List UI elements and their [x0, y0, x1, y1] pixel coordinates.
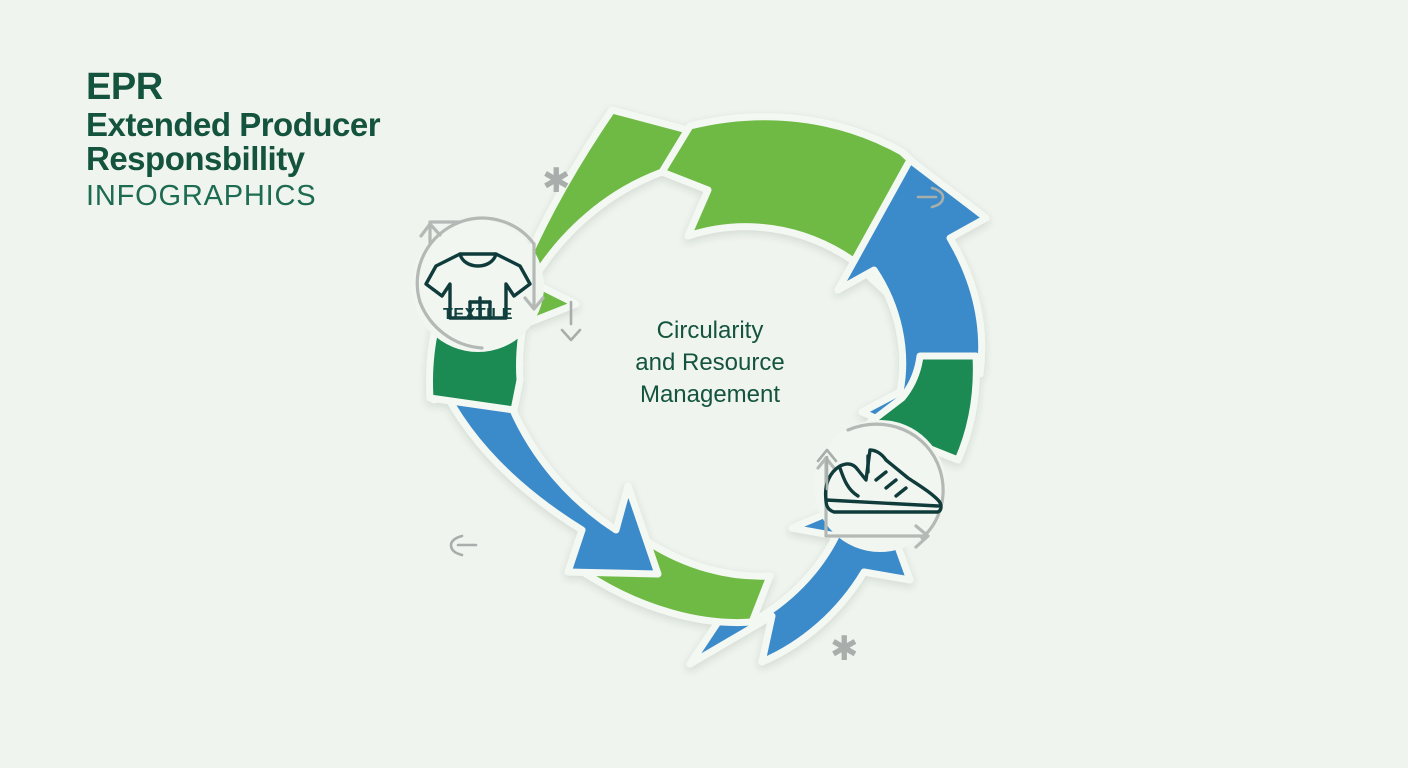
node-textile-caption: TEXTILE: [402, 306, 554, 324]
infographic-canvas: EPR Extended Producer Responsbillity INF…: [0, 0, 1408, 768]
tshirt-icon: [402, 210, 554, 362]
circular-cycle-diagram: Circularity and Resource Management: [390, 60, 1030, 720]
node-footwear[interactable]: [804, 410, 956, 562]
ring-arrows-svg: [390, 60, 1030, 720]
node-textile[interactable]: TEXTILE: [402, 210, 554, 362]
sneaker-icon: [804, 410, 956, 562]
